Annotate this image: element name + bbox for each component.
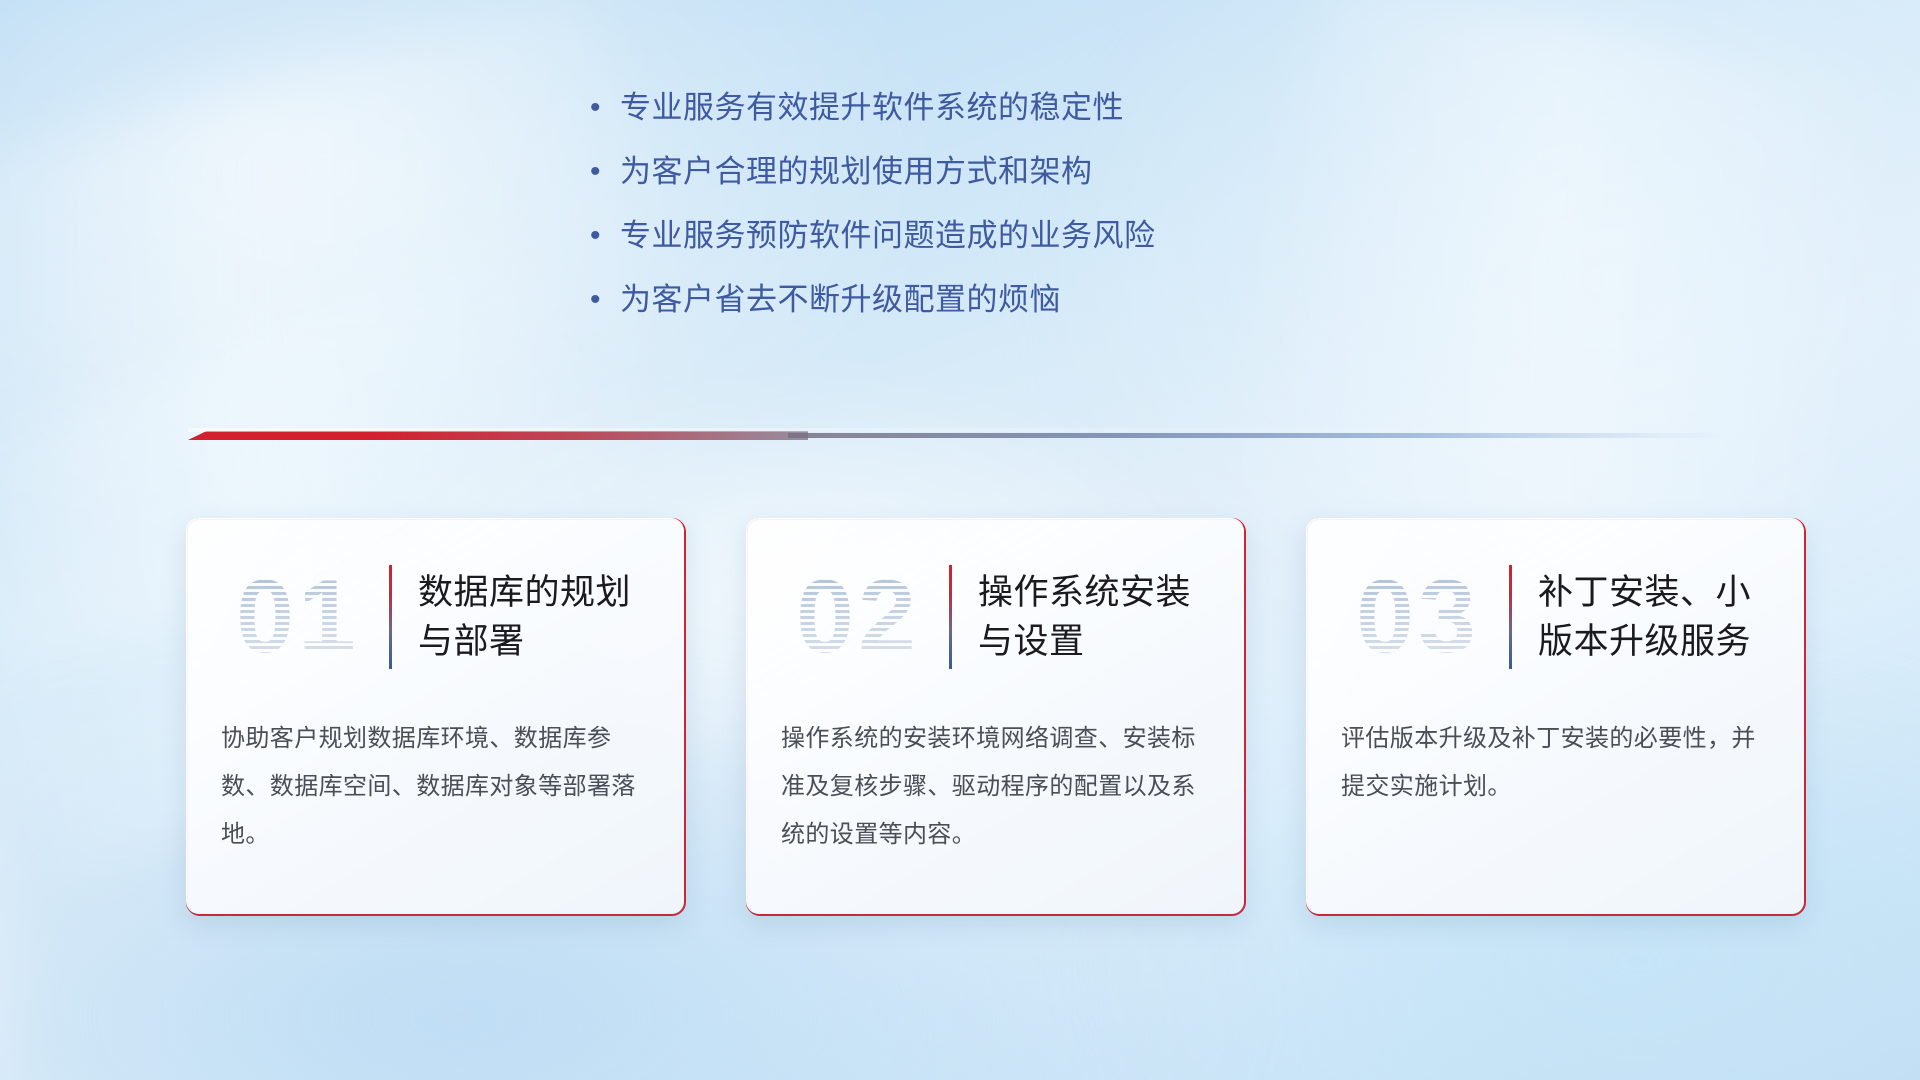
card-surface: 01 数据库的规划与部署 协助客户规划数据库环境、数据库参数、数据库空间、数据库… xyxy=(186,518,684,914)
bullet-item-text: 专业服务预防软件问题造成的业务风险 xyxy=(620,216,1156,256)
bullet-dot-icon: • xyxy=(590,216,620,256)
service-card-02[interactable]: 02 操作系统安装与设置 操作系统的安装环境网络调查、安装标准及复核步骤、驱动程… xyxy=(746,518,1246,916)
card-title: 数据库的规划与部署 xyxy=(418,568,684,666)
bullet-dot-icon: • xyxy=(590,280,620,320)
bullet-item-text: 专业服务有效提升软件系统的稳定性 xyxy=(620,88,1124,128)
card-header: 01 数据库的规划与部署 xyxy=(187,547,684,687)
card-title: 操作系统安装与设置 xyxy=(978,568,1244,666)
bullet-item-text: 为客户合理的规划使用方式和架构 xyxy=(620,152,1093,192)
card-description: 评估版本升级及补丁安装的必要性，并提交实施计划。 xyxy=(1341,715,1774,811)
section-divider xyxy=(188,425,1728,447)
card-header: 02 操作系统安装与设置 xyxy=(747,547,1244,687)
card-number: 01 xyxy=(213,556,383,678)
bullet-dot-icon: • xyxy=(590,152,620,192)
card-number: 03 xyxy=(1333,556,1503,678)
list-item: • 为客户合理的规划使用方式和架构 xyxy=(590,152,1330,216)
list-item: • 专业服务有效提升软件系统的稳定性 xyxy=(590,88,1330,152)
card-description: 操作系统的安装环境网络调查、安装标准及复核步骤、驱动程序的配置以及系统的设置等内… xyxy=(781,715,1214,859)
service-card-grid: 01 数据库的规划与部署 协助客户规划数据库环境、数据库参数、数据库空间、数据库… xyxy=(186,518,1806,928)
card-surface: 03 补丁安装、小版本升级服务 评估版本升级及补丁安装的必要性，并提交实施计划。 xyxy=(1306,518,1804,914)
divider-highlight xyxy=(188,428,1728,432)
bullet-item-text: 为客户省去不断升级配置的烦恼 xyxy=(620,280,1061,320)
bullet-dot-icon: • xyxy=(590,88,620,128)
benefits-bullet-list: • 专业服务有效提升软件系统的稳定性 • 为客户合理的规划使用方式和架构 • 专… xyxy=(0,88,1920,344)
service-card-01[interactable]: 01 数据库的规划与部署 协助客户规划数据库环境、数据库参数、数据库空间、数据库… xyxy=(186,518,686,916)
card-header: 03 补丁安装、小版本升级服务 xyxy=(1307,547,1804,687)
card-title: 补丁安装、小版本升级服务 xyxy=(1538,568,1804,666)
card-number: 02 xyxy=(773,556,943,678)
card-surface: 02 操作系统安装与设置 操作系统的安装环境网络调查、安装标准及复核步骤、驱动程… xyxy=(746,518,1244,914)
list-item: • 专业服务预防软件问题造成的业务风险 xyxy=(590,216,1330,280)
service-card-03[interactable]: 03 补丁安装、小版本升级服务 评估版本升级及补丁安装的必要性，并提交实施计划。 xyxy=(1306,518,1806,916)
card-divider-bar xyxy=(389,565,392,669)
card-description: 协助客户规划数据库环境、数据库参数、数据库空间、数据库对象等部署落地。 xyxy=(221,715,654,859)
card-divider-bar xyxy=(1509,565,1512,669)
list-item: • 为客户省去不断升级配置的烦恼 xyxy=(590,280,1330,344)
divider-red-segment xyxy=(188,431,808,440)
card-divider-bar xyxy=(949,565,952,669)
divider-fade-segment xyxy=(788,433,1728,438)
